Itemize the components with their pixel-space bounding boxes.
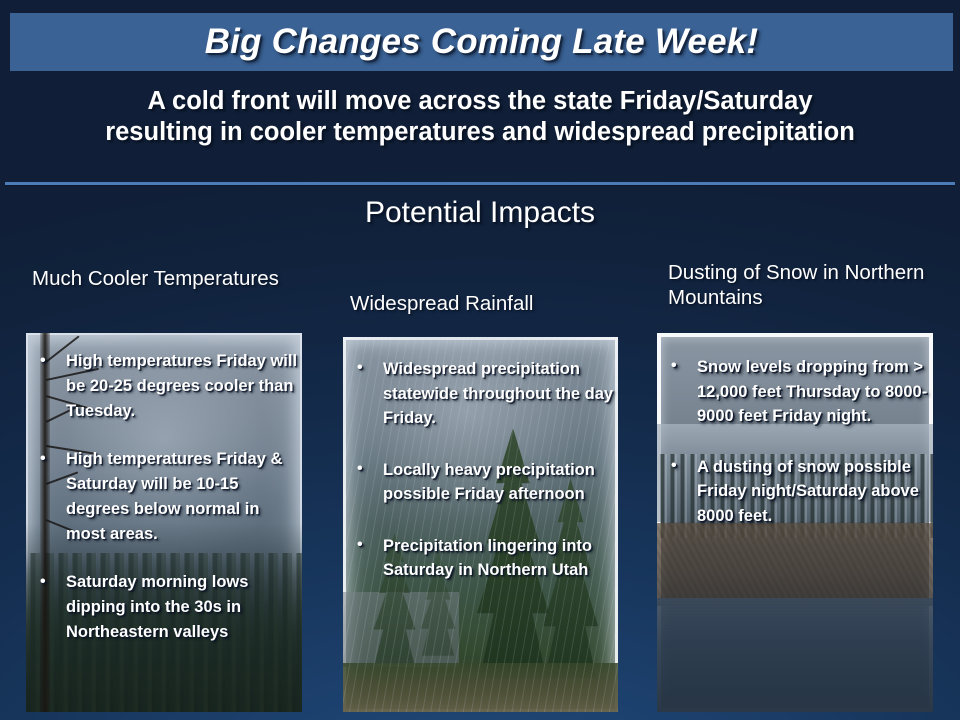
lake-layer bbox=[657, 598, 933, 712]
column-heading-much-cooler-temperatures: Much Cooler Temperatures bbox=[32, 266, 282, 291]
list-item: Precipitation lingering into Saturday in… bbox=[343, 534, 618, 583]
slide-title: Big Changes Coming Late Week! bbox=[205, 22, 759, 62]
bullet-list: High temperatures Friday will be 20-25 d… bbox=[26, 349, 302, 645]
list-item: Locally heavy precipitation possible Fri… bbox=[343, 458, 618, 507]
section-heading: Potential Impacts bbox=[0, 196, 960, 230]
impact-box-much-cooler-temperatures: High temperatures Friday will be 20-25 d… bbox=[26, 333, 302, 712]
impact-box-dusting-of-snow: Snow levels dropping from > 12,000 feet … bbox=[657, 333, 933, 712]
weather-briefing-slide: Big Changes Coming Late Week! A cold fro… bbox=[0, 0, 960, 720]
list-item: Widespread precipitation statewide throu… bbox=[343, 357, 618, 431]
horizontal-divider bbox=[5, 182, 955, 185]
bullet-list: Snow levels dropping from > 12,000 feet … bbox=[657, 355, 933, 528]
slide-title-banner: Big Changes Coming Late Week! bbox=[10, 13, 953, 71]
subtitle-line-1: A cold front will move across the state … bbox=[0, 86, 960, 117]
list-item: Snow levels dropping from > 12,000 feet … bbox=[657, 355, 933, 429]
slide-subtitle: A cold front will move across the state … bbox=[0, 86, 960, 148]
column-heading-widespread-rainfall: Widespread Rainfall bbox=[350, 291, 620, 316]
list-item: High temperatures Friday will be 20-25 d… bbox=[26, 349, 302, 424]
column-heading-dusting-of-snow: Dusting of Snow in Northern Mountains bbox=[668, 260, 938, 310]
list-item: A dusting of snow possible Friday night/… bbox=[657, 455, 933, 529]
list-item: High temperatures Friday & Saturday will… bbox=[26, 447, 302, 547]
bullet-list: Widespread precipitation statewide throu… bbox=[343, 357, 618, 583]
rocky-shore-layer bbox=[657, 523, 933, 606]
impact-box-widespread-rainfall: Widespread precipitation statewide throu… bbox=[343, 337, 618, 712]
subtitle-line-2: resulting in cooler temperatures and wid… bbox=[0, 117, 960, 148]
list-item: Saturday morning lows dipping into the 3… bbox=[26, 570, 302, 645]
